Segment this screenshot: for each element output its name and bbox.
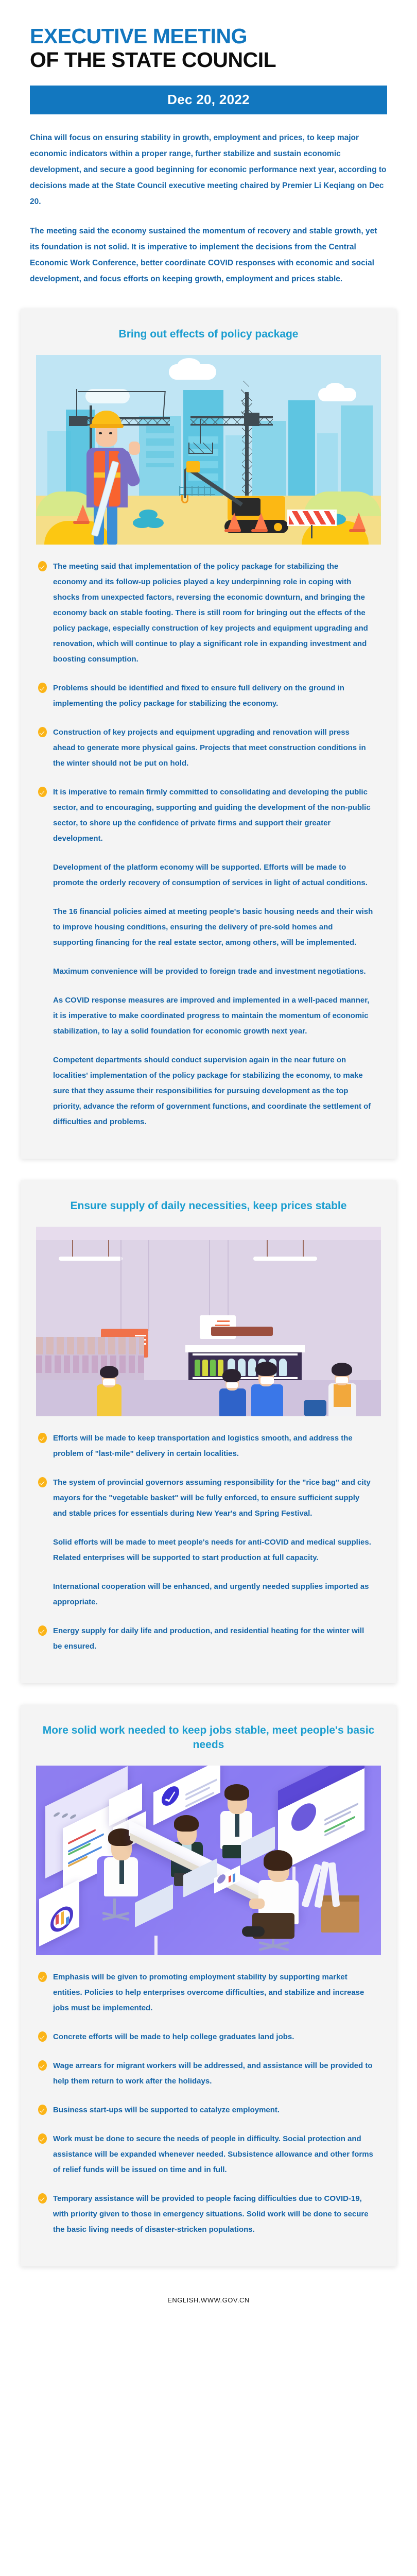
list-item-text: Temporary assistance will be provided to… [53,2191,374,2238]
list-item-text: Work must be done to secure the needs of… [53,2131,374,2178]
bullet-spacer [38,966,47,976]
bullet-spacer [38,1581,47,1591]
bullet-spacer [38,1055,47,1065]
page-title-line1: EXECUTIVE MEETING [30,25,387,48]
section-title: More solid work needed to keep jobs stab… [21,1723,396,1752]
section-bullet-list: Efforts will be made to keep transportat… [21,1416,396,1654]
check-circle-icon [38,683,47,693]
list-item-text: Construction of key projects and equipme… [53,725,374,771]
check-circle-icon [38,2031,47,2042]
bullet-spacer [38,1537,47,1547]
intro-paragraph-2: The meeting said the economy sustained t… [30,223,387,287]
page-title-line2: OF THE STATE COUNCIL [30,48,387,72]
list-item: Business start-ups will be supported to … [38,2103,374,2118]
list-item-text: Competent departments should conduct sup… [53,1053,374,1130]
section-card-daily-necessities: Ensure supply of daily necessities, keep… [21,1180,396,1683]
list-item-text: It is imperative to remain firmly commit… [53,785,374,846]
check-circle-icon [38,2105,47,2115]
list-item: Solid efforts will be made to meet peopl… [38,1535,374,1566]
check-circle-icon [38,2133,47,2144]
check-circle-icon [38,2193,47,2204]
page-header: EXECUTIVE MEETING OF THE STATE COUNCIL D… [0,0,417,114]
list-item-text: Maximum convenience will be provided to … [53,964,366,979]
section-title: Bring out effects of policy package [21,327,396,342]
check-circle-icon [38,727,47,737]
section-bullet-list: Emphasis will be given to promoting empl… [21,1955,396,2238]
check-circle-icon [38,561,47,571]
list-item-text: Solid efforts will be made to meet peopl… [53,1535,374,1566]
list-item: Concrete efforts will be made to help co… [38,2029,374,2045]
list-item-text: As COVID response measures are improved … [53,993,374,1039]
list-item: The system of provincial governors assum… [38,1475,374,1521]
check-circle-icon [38,1625,47,1636]
list-item-text: The system of provincial governors assum… [53,1475,374,1521]
list-item: Wage arrears for migrant workers will be… [38,2058,374,2089]
list-item: Competent departments should conduct sup… [38,1053,374,1130]
office-meeting-illustration [36,1766,381,1955]
list-item-text: International cooperation will be enhanc… [53,1579,374,1610]
construction-site-illustration [36,355,381,545]
list-item: It is imperative to remain firmly commit… [38,785,374,846]
list-item: Energy supply for daily life and product… [38,1623,374,1654]
list-item-text: Development of the platform economy will… [53,860,374,891]
list-item: The meeting said that implementation of … [38,559,374,667]
list-item: Efforts will be made to keep transportat… [38,1431,374,1462]
list-item: Temporary assistance will be provided to… [38,2191,374,2238]
check-circle-icon [38,1477,47,1487]
intro-paragraph-1: China will focus on ensuring stability i… [30,130,387,210]
list-item: As COVID response measures are improved … [38,993,374,1039]
intro-section: China will focus on ensuring stability i… [0,114,417,287]
list-item: Maximum convenience will be provided to … [38,964,374,979]
meeting-date-badge: Dec 20, 2022 [30,86,387,114]
section-card-policy-package: Bring out effects of policy package [21,309,396,1159]
list-item-text: Energy supply for daily life and product… [53,1623,374,1654]
list-item-text: Efforts will be made to keep transportat… [53,1431,374,1462]
section-bullet-list: The meeting said that implementation of … [21,545,396,1130]
list-item: The 16 financial policies aimed at meeti… [38,904,374,951]
list-item: Emphasis will be given to promoting empl… [38,1970,374,2016]
section-title: Ensure supply of daily necessities, keep… [21,1199,396,1213]
bullet-spacer [38,995,47,1005]
list-item-text: The 16 financial policies aimed at meeti… [53,904,374,951]
check-circle-icon [38,1972,47,1982]
list-item-text: Wage arrears for migrant workers will be… [53,2058,374,2089]
list-item-text: Concrete efforts will be made to help co… [53,2029,294,2045]
list-item: Development of the platform economy will… [38,860,374,891]
list-item: Construction of key projects and equipme… [38,725,374,771]
list-item: Problems should be identified and fixed … [38,681,374,711]
bullet-spacer [38,862,47,872]
list-item-text: Emphasis will be given to promoting empl… [53,1970,374,2016]
list-item-text: Problems should be identified and fixed … [53,681,374,711]
check-circle-icon [38,1433,47,1443]
list-item: International cooperation will be enhanc… [38,1579,374,1610]
bullet-spacer [38,906,47,917]
check-circle-icon [38,2060,47,2071]
source-footer: ENGLISH.WWW.GOV.CN [0,2296,417,2304]
section-card-jobs-basic-needs: More solid work needed to keep jobs stab… [21,1705,396,2266]
list-item: Work must be done to secure the needs of… [38,2131,374,2178]
list-item-text: The meeting said that implementation of … [53,559,374,667]
check-circle-icon [38,787,47,797]
list-item-text: Business start-ups will be supported to … [53,2103,280,2118]
supermarket-illustration [36,1227,381,1416]
